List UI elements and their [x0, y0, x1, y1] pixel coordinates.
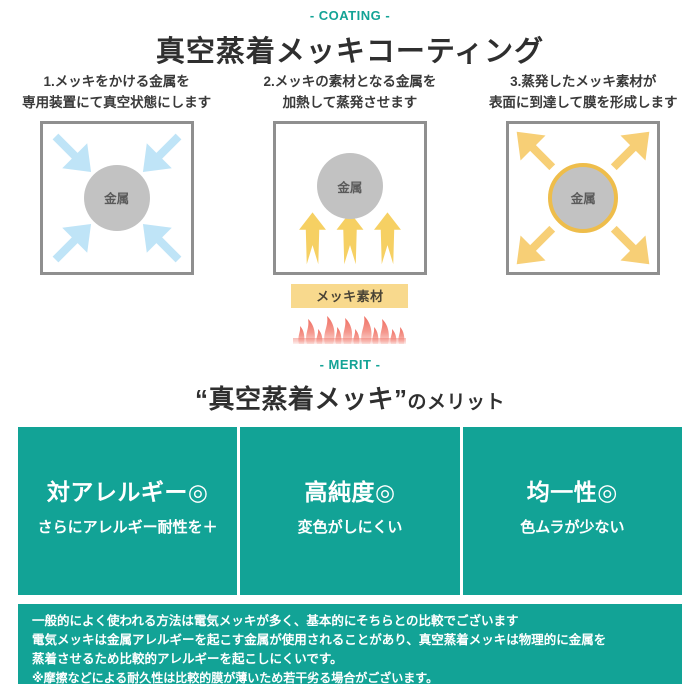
merit-panel-allergy: 対アレルギー◎ さらにアレルギー耐性を＋	[18, 427, 237, 595]
step-3-caption: 3.蒸発したメッキ素材が 表面に到達して膜を形成します	[489, 72, 678, 114]
coating-section-title: 真空蒸着メッキコーティング	[0, 28, 700, 70]
merit-panel-uniformity: 均一性◎ 色ムラが少ない	[463, 427, 682, 595]
footnote-line-3: 蒸着させるため比較的アレルギーを起こしにくいです。	[32, 650, 668, 669]
flame-icon	[291, 310, 408, 344]
footnote-banner: 一般的によく使われる方法は電気メッキが多く、基本的にそちらとの比較でございます …	[18, 604, 682, 684]
process-step-1: 1.メッキをかける金属を 専用装置にて真空状態にします 金属	[0, 72, 233, 344]
footnote-line-4: ※摩擦などによる耐久性は比較的膜が薄いため若干劣る場合がございます。	[32, 669, 668, 687]
merit-panel-uniformity-sub: 色ムラが少ない	[520, 516, 624, 537]
merit-title-quoted: “真空蒸着メッキ”	[195, 384, 408, 414]
process-step-2: 2.メッキの素材となる金属を 加熱して蒸発させます 金属 メッキ素材	[233, 72, 466, 344]
process-steps-row: 1.メッキをかける金属を 専用装置にて真空状態にします 金属 2.メッキの素材と…	[0, 72, 700, 344]
step-1-caption: 1.メッキをかける金属を 専用装置にて真空状態にします	[22, 72, 211, 114]
step-2-diagram: 金属	[273, 121, 427, 275]
metal-circle-step-2: 金属	[317, 153, 383, 219]
footnote-line-2: 電気メッキは金属アレルギーを起こす金属が使用されることがあり、真空蒸着メッキは物…	[32, 631, 668, 650]
metal-circle-step-1: 金属	[84, 165, 150, 231]
metal-circle-step-3: 金属	[548, 163, 618, 233]
merit-panel-purity-sub: 変色がしにくい	[298, 516, 403, 537]
footnote-line-1: 一般的によく使われる方法は電気メッキが多く、基本的にそちらとの比較でございます	[32, 612, 668, 631]
step-2-caption: 2.メッキの素材となる金属を 加熱して蒸発させます	[264, 72, 437, 114]
merit-panel-uniformity-headline: 均一性◎	[527, 473, 618, 507]
merit-panel-allergy-headline: 対アレルギー◎	[47, 473, 209, 507]
merit-section-title: “真空蒸着メッキ”のメリット	[0, 379, 700, 416]
step-3-diagram: 金属	[506, 121, 660, 275]
step-1-diagram: 金属	[40, 121, 194, 275]
plating-material-bar: メッキ素材	[291, 284, 408, 308]
merit-eyebrow-label: - MERIT -	[0, 357, 700, 372]
plating-source-stack: メッキ素材	[273, 275, 427, 344]
merit-panel-purity-headline: 高純度◎	[304, 473, 395, 507]
merit-panel-purity: 高純度◎ 変色がしにくい	[240, 427, 459, 595]
merit-title-tail: のメリット	[408, 392, 506, 413]
process-step-3: 3.蒸発したメッキ素材が 表面に到達して膜を形成します 金属	[467, 72, 700, 344]
merit-panels-row: 対アレルギー◎ さらにアレルギー耐性を＋ 高純度◎ 変色がしにくい 均一性◎ 色…	[18, 427, 682, 595]
merit-panel-allergy-sub: さらにアレルギー耐性を＋	[38, 516, 218, 537]
coating-eyebrow-label: - COATING -	[0, 8, 700, 23]
